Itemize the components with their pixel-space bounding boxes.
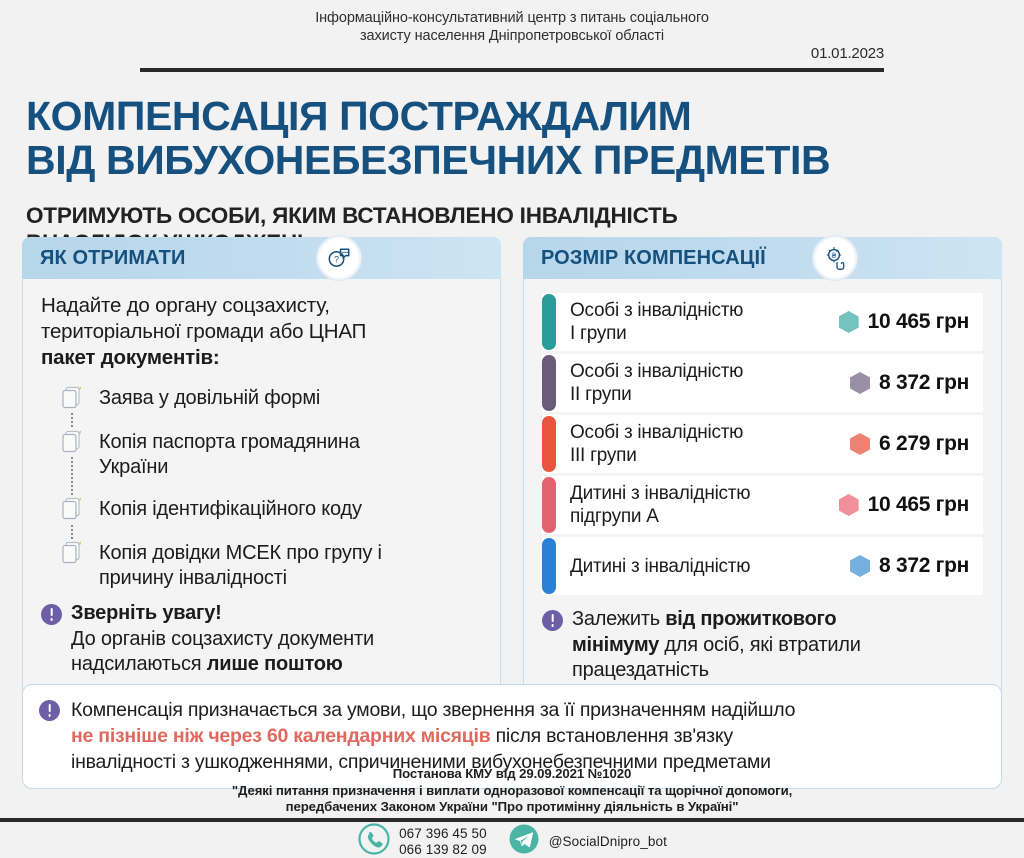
page-title-line-1: КОМПЕНСАЦІЯ ПОСТРАЖДАЛИМ (26, 94, 1024, 138)
how-to-get-panel-body: Надайте до органу соцзахисту, територіал… (23, 279, 500, 694)
telegram-handle: @SocialDnipro_bot (549, 834, 667, 849)
row-amount: 8 372 грн (850, 354, 983, 412)
date-row: 01.01.2023 (0, 45, 1024, 65)
legal-line-2: "Деякі питання призначення і виплати одн… (0, 783, 1024, 800)
legal-reference: Постанова КМУ від 29.09.2021 №1020 "Деяк… (0, 766, 1024, 816)
row-label: Особі з інвалідністю II групи (556, 354, 850, 412)
how-to-get-intro: Надайте до органу соцзахисту, територіал… (41, 293, 482, 371)
subsistence-note-seg-2: для осіб, які втратили (659, 634, 861, 656)
intro-line-2: територіальної громади або ЦНАП (41, 319, 482, 345)
subsistence-note-line-3: працездатність (572, 658, 861, 684)
intro-line-1: Надайте до органу соцзахисту, (41, 293, 482, 319)
deadline-notice-text: Компенсація призначається за умови, що з… (71, 697, 795, 775)
compensation-amount-panel-title: РОЗМІР КОМПЕНСАЦІЇ (541, 247, 766, 270)
row-color-bar (542, 538, 556, 594)
subsistence-note-bold-2: мінімуму (572, 634, 659, 656)
row-amount: 10 465 грн (839, 476, 983, 534)
row-amount: 6 279 грн (850, 415, 983, 473)
legal-line-3: передбачених Законом України "Про протим… (0, 799, 1024, 816)
attention-note-body: Зверніть увагу! До органів соцзахисту до… (71, 601, 374, 678)
organization-line-1: Інформаційно-консультативний центр з пит… (0, 9, 1024, 27)
list-item-text: Заява у довільній формі (99, 385, 320, 411)
svg-text:₴: ₴ (832, 251, 837, 260)
document-copy-icon (59, 385, 85, 413)
list-item-line-1: Копія ідентифікаційного коду (99, 497, 362, 522)
legal-line-1: Постанова КМУ від 29.09.2021 №1020 (0, 766, 1024, 783)
hexagon-marker-icon (850, 372, 870, 394)
list-item: Копія паспорта громадянина України (59, 429, 482, 480)
document-copy-icon (59, 496, 85, 524)
hexagon-marker-icon (850, 555, 870, 577)
row-label-line-2: I групи (570, 322, 743, 345)
row-label: Особі з інвалідністю I групи (556, 293, 839, 351)
hexagon-marker-icon (850, 433, 870, 455)
table-row: Дитині з інвалідністю підгрупи А 10 465 … (542, 476, 983, 534)
document-copy-icon (59, 540, 85, 568)
table-row: Дитині з інвалідністю 8 372 грн (542, 537, 983, 595)
phone-number-2: 066 139 82 09 (399, 842, 487, 858)
intro-line-3-bold: пакет документів: (41, 345, 482, 371)
phone-number-1: 067 396 45 50 (399, 826, 487, 842)
organization-line-2: захисту населення Дніпропетровської обла… (0, 27, 1024, 45)
attention-note-line-2-bold: лише поштою (207, 653, 343, 675)
exclamation-circle-icon (41, 604, 62, 625)
list-item-line-2: України (99, 455, 360, 480)
row-amount-value: 6 279 грн (879, 432, 969, 456)
subsistence-note: Залежить від прожиткового мінімуму для о… (542, 607, 983, 684)
row-label-line-2: II групи (570, 383, 743, 406)
compensation-rows: Особі з інвалідністю I групи 10 465 грн (542, 293, 983, 595)
panels-container: ЯК ОТРИМАТИ ? Надайте до органу соцзахис… (22, 237, 1002, 701)
how-to-get-panel-title: ЯК ОТРИМАТИ (40, 247, 185, 270)
attention-note-line-1: До органів соцзахисту документи (71, 627, 374, 653)
table-row: Особі з інвалідністю III групи 6 279 грн (542, 415, 983, 473)
row-color-bar (542, 477, 556, 533)
phone-circle-icon (357, 822, 391, 858)
deadline-notice-line-2-rest: після встановлення зв'язку (490, 725, 732, 747)
list-item-text: Копія довідки МСЕК про групу і причину і… (99, 540, 382, 591)
phone-numbers: 067 396 45 50 066 139 82 09 (399, 826, 487, 858)
row-label-line-1: Особі з інвалідністю (570, 299, 743, 322)
list-item-line-1: Копія довідки МСЕК про групу і (99, 541, 382, 566)
row-label-line-1: Дитині з інвалідністю (570, 555, 750, 578)
hexagon-marker-icon (839, 311, 859, 333)
row-label-line-1: Особі з інвалідністю (570, 360, 743, 383)
subsistence-note-line-1: Залежить від прожиткового (572, 607, 861, 633)
page-title-line-2: ВІД ВИБУХОНЕБЕЗПЕЧНИХ ПРЕДМЕТІВ (26, 138, 1024, 182)
compensation-amount-panel-header: РОЗМІР КОМПЕНСАЦІЇ ₴ (523, 237, 1002, 279)
row-amount-value: 8 372 грн (879, 554, 969, 578)
list-item-line-1: Копія паспорта громадянина (99, 430, 360, 455)
subsistence-note-seg-1: Залежить (572, 608, 665, 630)
organization-header: Інформаційно-консультативний центр з пит… (0, 0, 1024, 72)
subsistence-note-bold-1: від прожиткового (665, 608, 836, 630)
deadline-notice-line-1: Компенсація призначається за умови, що з… (71, 697, 795, 723)
table-row: Особі з інвалідністю II групи 8 372 грн (542, 354, 983, 412)
chat-question-icon: ? (317, 236, 361, 280)
exclamation-circle-icon (542, 610, 563, 631)
contacts-bar: 067 396 45 50 066 139 82 09 @SocialDnipr… (0, 822, 1024, 858)
row-label: Дитині з інвалідністю підгрупи А (556, 476, 839, 534)
attention-note: Зверніть увагу! До органів соцзахисту до… (41, 601, 482, 678)
money-hand-icon: ₴ (813, 236, 857, 280)
list-item: Заява у довільній формі (59, 385, 482, 413)
row-amount-value: 8 372 грн (879, 371, 969, 395)
hexagon-marker-icon (839, 494, 859, 516)
row-label-line-2: III групи (570, 444, 743, 467)
attention-note-title: Зверніть увагу! (71, 601, 374, 627)
row-amount: 8 372 грн (850, 537, 983, 595)
attention-note-line-2: надсилаються лише поштою (71, 652, 374, 678)
list-item-text: Копія ідентифікаційного коду (99, 496, 362, 522)
page-subtitle-line-1: ОТРИМУЮТЬ ОСОБИ, ЯКИМ ВСТАНОВЛЕНО ІНВАЛІ… (26, 202, 1024, 229)
row-color-bar (542, 355, 556, 411)
list-item: Копія довідки МСЕК про групу і причину і… (59, 540, 482, 591)
row-amount-value: 10 465 грн (868, 310, 969, 334)
svg-text:?: ? (334, 255, 339, 265)
phone-contact[interactable]: 067 396 45 50 066 139 82 09 (357, 822, 487, 858)
table-row: Особі з інвалідністю I групи 10 465 грн (542, 293, 983, 351)
attention-note-text: До органів соцзахисту документи надсилаю… (71, 627, 374, 678)
list-item: Копія ідентифікаційного коду (59, 496, 482, 524)
row-amount-value: 10 465 грн (868, 493, 969, 517)
subsistence-note-text: Залежить від прожиткового мінімуму для о… (572, 607, 861, 684)
list-item-line-2: причину інвалідності (99, 566, 382, 591)
how-to-get-panel: ЯК ОТРИМАТИ ? Надайте до органу соцзахис… (22, 237, 501, 701)
telegram-icon (507, 822, 541, 858)
header-divider (140, 68, 884, 72)
document-copy-icon (59, 429, 85, 457)
row-label-line-2: підгрупи А (570, 505, 750, 528)
deadline-notice-line-2: не пізніше ніж через 60 календарних міся… (71, 723, 795, 749)
exclamation-circle-icon (39, 700, 60, 721)
list-item-text: Копія паспорта громадянина України (99, 429, 360, 480)
date-label: 01.01.2023 (811, 45, 884, 62)
row-color-bar (542, 416, 556, 472)
document-list: Заява у довільній формі Копія (59, 385, 482, 591)
compensation-amount-panel-body: Особі з інвалідністю I групи 10 465 грн (524, 279, 1001, 700)
row-label-line-1: Особі з інвалідністю (570, 421, 743, 444)
deadline-notice-highlight: не пізніше ніж через 60 календарних міся… (71, 725, 490, 747)
page-title: КОМПЕНСАЦІЯ ПОСТРАЖДАЛИМ ВІД ВИБУХОНЕБЕЗ… (26, 94, 1024, 182)
subsistence-note-line-2: мінімуму для осіб, які втратили (572, 633, 861, 659)
list-item-line-1: Заява у довільній формі (99, 386, 320, 411)
infographic-page: Інформаційно-консультативний центр з пит… (0, 0, 1024, 858)
footer-divider (0, 818, 1024, 822)
row-color-bar (542, 294, 556, 350)
row-label: Дитині з інвалідністю (556, 537, 850, 595)
attention-note-line-2-prefix: надсилаються (71, 653, 207, 675)
row-label-line-1: Дитині з інвалідністю (570, 482, 750, 505)
how-to-get-panel-header: ЯК ОТРИМАТИ ? (22, 237, 501, 279)
telegram-contact[interactable]: @SocialDnipro_bot (507, 822, 667, 858)
compensation-amount-panel: РОЗМІР КОМПЕНСАЦІЇ ₴ (523, 237, 1002, 701)
row-label: Особі з інвалідністю III групи (556, 415, 850, 473)
row-amount: 10 465 грн (839, 293, 983, 351)
